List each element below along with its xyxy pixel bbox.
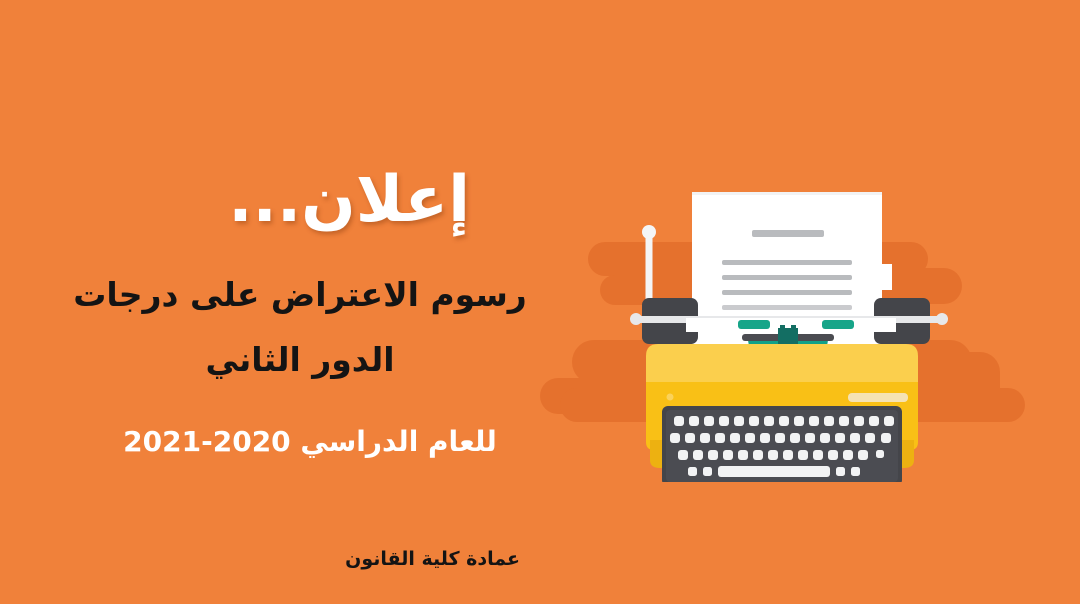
typewriter-illustration [586,192,986,482]
academic-year-label: للعام الدراسي 2020-2021 [60,425,560,458]
page-title: إعلان... [228,168,470,232]
footer-issuer: عمادة كلية القانون [345,548,520,570]
text-column: إعلان... رسوم الاعتراض على درجات الدور ا… [0,0,560,604]
body-line-1: رسوم الاعتراض على درجات [70,278,530,313]
body-line-2: الدور الثاني [40,343,560,378]
announcement-slide: إعلان... رسوم الاعتراض على درجات الدور ا… [0,0,1080,604]
